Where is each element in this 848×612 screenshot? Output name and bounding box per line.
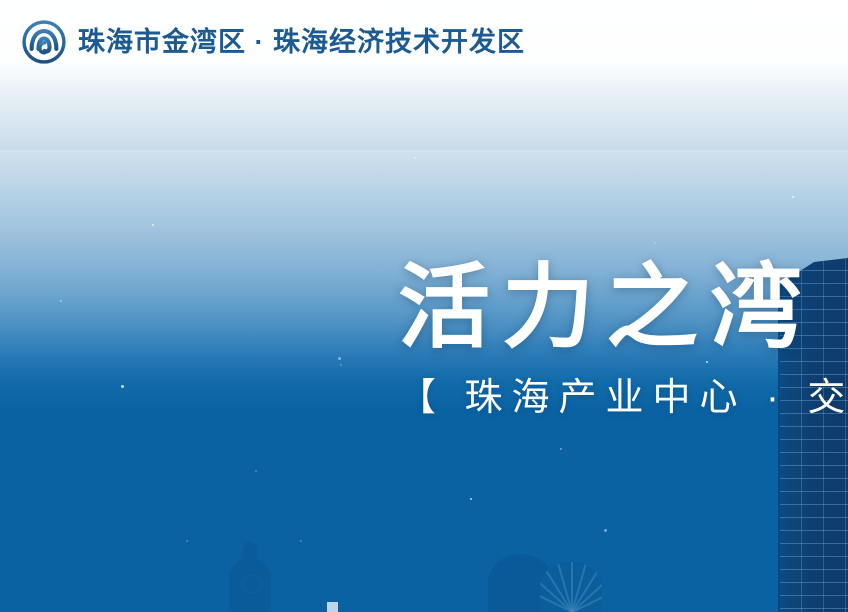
- zhuhai-arch-emblem-icon: [22, 20, 66, 64]
- hero-copy-block: 活力之湾 【 珠海产业中心 · 交通: [398, 262, 848, 420]
- site-header: 珠海市金湾区 · 珠海经济技术开发区: [0, 0, 848, 84]
- promo-banner-page: 珠海市金湾区 · 珠海经济技术开发区 活力之湾 【 珠海产业中心 · 交通: [0, 0, 848, 612]
- site-title: 珠海市金湾区 · 珠海经济技术开发区: [78, 29, 525, 56]
- ground-marker: [327, 602, 338, 612]
- hero-subheadline: 【 珠海产业中心 · 交通: [398, 378, 848, 420]
- brand-lockup[interactable]: 珠海市金湾区 · 珠海经济技术开发区: [22, 20, 525, 64]
- hero-headline: 活力之湾: [398, 262, 848, 356]
